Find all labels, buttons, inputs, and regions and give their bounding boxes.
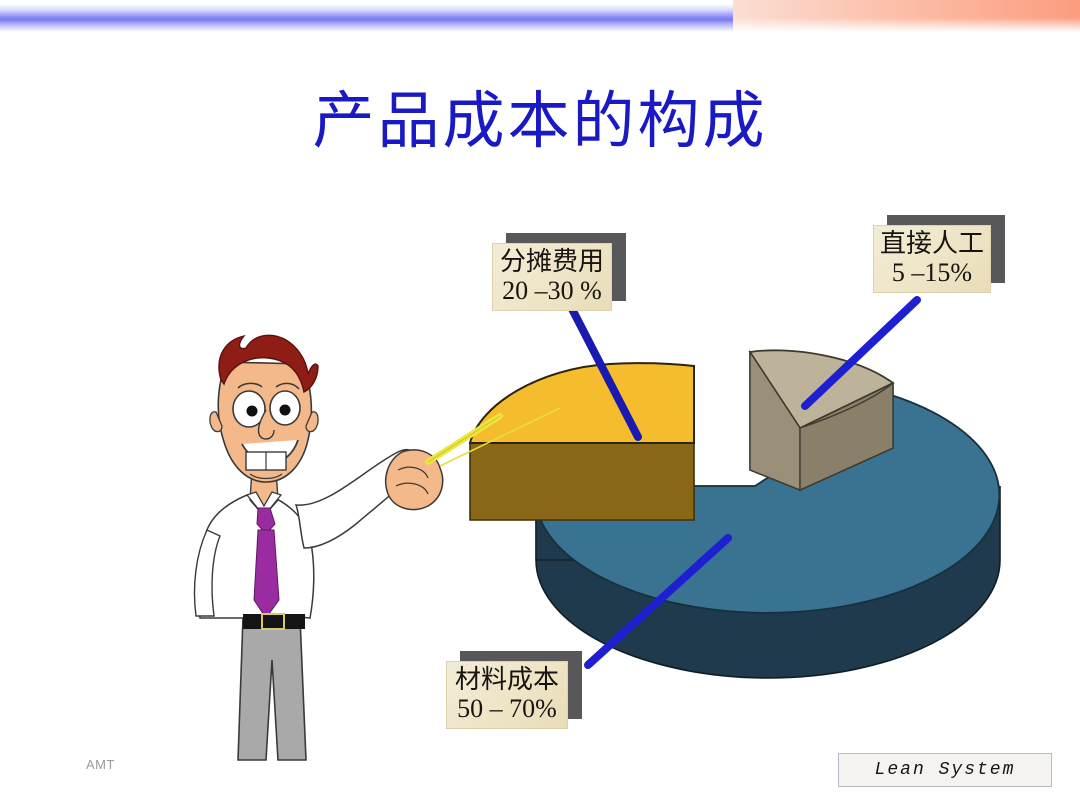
- footer-amt-mark: AMT: [86, 757, 115, 772]
- leader-line-direct-labor: [805, 300, 917, 406]
- callout-material-face: 材料成本 50 – 70%: [446, 661, 568, 729]
- callout-overhead-face: 分摊费用 20 –30 %: [492, 243, 612, 311]
- callout-overhead-title: 分摊费用: [500, 247, 604, 276]
- callout-overhead: 分摊费用 20 –30 %: [492, 243, 612, 311]
- callout-direct-labor-value: 5 –15%: [892, 258, 972, 287]
- footer-brand-label: Lean System: [875, 760, 1016, 780]
- leader-line-material: [588, 538, 728, 665]
- callout-direct-labor: 直接人工 5 –15%: [873, 225, 991, 293]
- callout-material: 材料成本 50 – 70%: [446, 661, 568, 729]
- callout-direct-labor-title: 直接人工: [880, 229, 984, 258]
- callout-direct-labor-face: 直接人工 5 –15%: [873, 225, 991, 293]
- pie-chart-illustration: 分摊费用 20 –30 % 直接人工 5 –15% 材料成本 50 – 70%: [0, 0, 1080, 809]
- leader-line-overhead: [570, 305, 638, 437]
- callout-material-title: 材料成本: [455, 665, 559, 694]
- callout-overhead-value: 20 –30 %: [502, 276, 602, 305]
- footer-brand-box: Lean System: [838, 753, 1052, 787]
- callout-material-value: 50 – 70%: [457, 694, 557, 723]
